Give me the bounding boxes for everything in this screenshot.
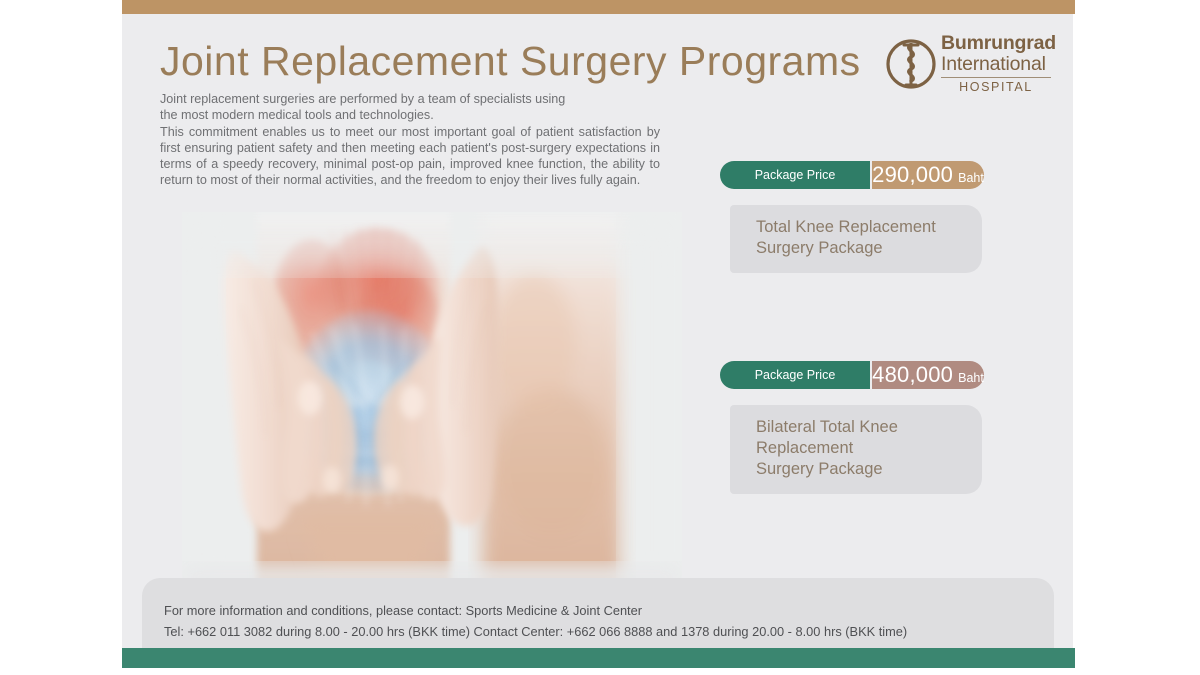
price-label-2: Package Price (720, 361, 870, 389)
page-title: Joint Replacement Surgery Programs (160, 38, 861, 85)
brand-name: Bumrungrad (941, 33, 1051, 54)
price-banner-2: Package Price 480,000 Baht (720, 361, 984, 389)
brand-wordmark: Bumrungrad International HOSPITAL (941, 33, 1051, 94)
price-amount-2: 480,000 (872, 361, 953, 389)
contact-line-2: Tel: +662 011 3082 during 8.00 - 20.00 h… (164, 621, 1054, 642)
package-card-2[interactable]: Bilateral Total Knee Replacement Surgery… (730, 405, 982, 494)
knee-anatomy-image (182, 212, 682, 590)
intro-line-2: the most modern medical tools and techno… (160, 107, 660, 123)
package-card-2-line-3: Surgery Package (756, 459, 964, 480)
package-card-2-line-1: Bilateral Total Knee (756, 417, 964, 438)
price-currency-1: Baht (958, 171, 984, 185)
intro-line-1: Joint replacement surgeries are performe… (160, 91, 660, 107)
brand-qualifier: International (941, 54, 1051, 75)
bottom-accent-bar (122, 648, 1075, 668)
price-banner-1: Package Price 290,000 Baht (720, 161, 984, 189)
price-value-2: 480,000 Baht (872, 361, 984, 389)
price-amount-1: 290,000 (872, 161, 953, 189)
advertisement-page: Joint Replacement Surgery Programs Joint… (0, 0, 1200, 675)
logo-divider (941, 77, 1051, 78)
caduceus-icon (885, 35, 937, 93)
package-card-1-line-2: Surgery Package (756, 238, 964, 259)
intro-paragraph: Joint replacement surgeries are performe… (160, 91, 660, 189)
package-card-2-line-2: Replacement (756, 438, 964, 459)
contact-footer: For more information and conditions, ple… (142, 578, 1054, 648)
brand-subtitle: HOSPITAL (941, 80, 1051, 94)
price-currency-2: Baht (958, 371, 984, 385)
price-label-1: Package Price (720, 161, 870, 189)
package-card-1-line-1: Total Knee Replacement (756, 217, 964, 238)
brand-logo: Bumrungrad International HOSPITAL (885, 33, 1050, 101)
top-accent-bar (122, 0, 1075, 14)
price-value-1: 290,000 Baht (872, 161, 984, 189)
intro-line-3: This commitment enables us to meet our m… (160, 124, 660, 189)
contact-line-1: For more information and conditions, ple… (164, 600, 1054, 621)
package-card-1[interactable]: Total Knee Replacement Surgery Package (730, 205, 982, 273)
